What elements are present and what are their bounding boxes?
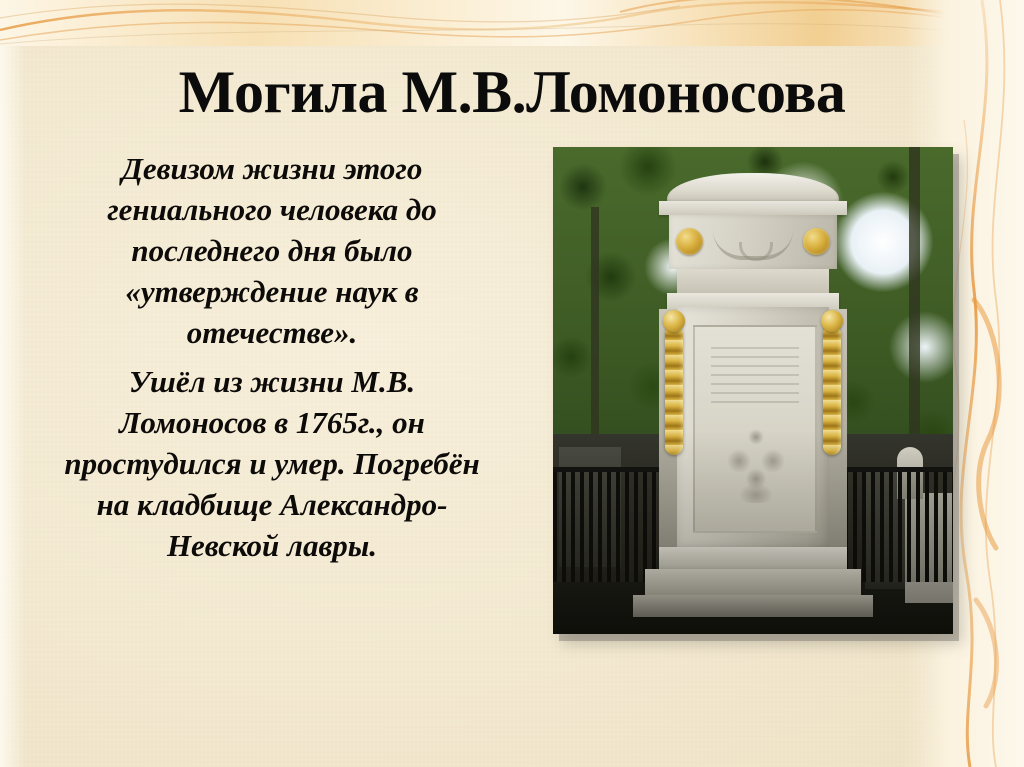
monument-plinth — [659, 547, 847, 571]
photo-iron-railing — [835, 467, 953, 582]
grave-of-lomonosov-photo — [553, 147, 953, 634]
photo-tree-trunk — [591, 207, 599, 457]
body-text-block: Девизом жизни этого гениального человека… — [62, 148, 482, 572]
monument-panel — [693, 325, 817, 533]
monument-carved-swag — [713, 230, 793, 260]
paragraph-1: Девизом жизни этого гениального человека… — [62, 148, 482, 353]
monument-relief-medallion — [719, 419, 793, 503]
monument-arched-top — [667, 173, 839, 203]
slide: Могила М.В.Ломоносова Девизом жизни этог… — [0, 0, 1024, 767]
monument-cornice — [659, 201, 847, 215]
photo-iron-railing — [553, 467, 671, 582]
top-swirl-ribbon-decoration — [0, 0, 1024, 46]
monument-neck — [677, 269, 829, 295]
gold-garland-right — [823, 325, 841, 455]
monument-step — [633, 595, 873, 617]
paragraph-2: Ушёл из жизни М.В. Ломоносов в 1765г., о… — [62, 361, 482, 566]
gold-medallion-right — [803, 228, 830, 255]
photo-monument — [655, 173, 851, 615]
monument-frieze — [669, 215, 837, 269]
monument-shaft — [677, 307, 829, 547]
photo-frame — [553, 147, 953, 634]
photo-tree-trunk — [909, 147, 920, 447]
page-title: Могила М.В.Ломоносова — [0, 58, 1024, 126]
gold-garland-left — [665, 325, 683, 455]
gold-medallion-left — [676, 228, 703, 255]
monument-inscription — [711, 341, 799, 403]
